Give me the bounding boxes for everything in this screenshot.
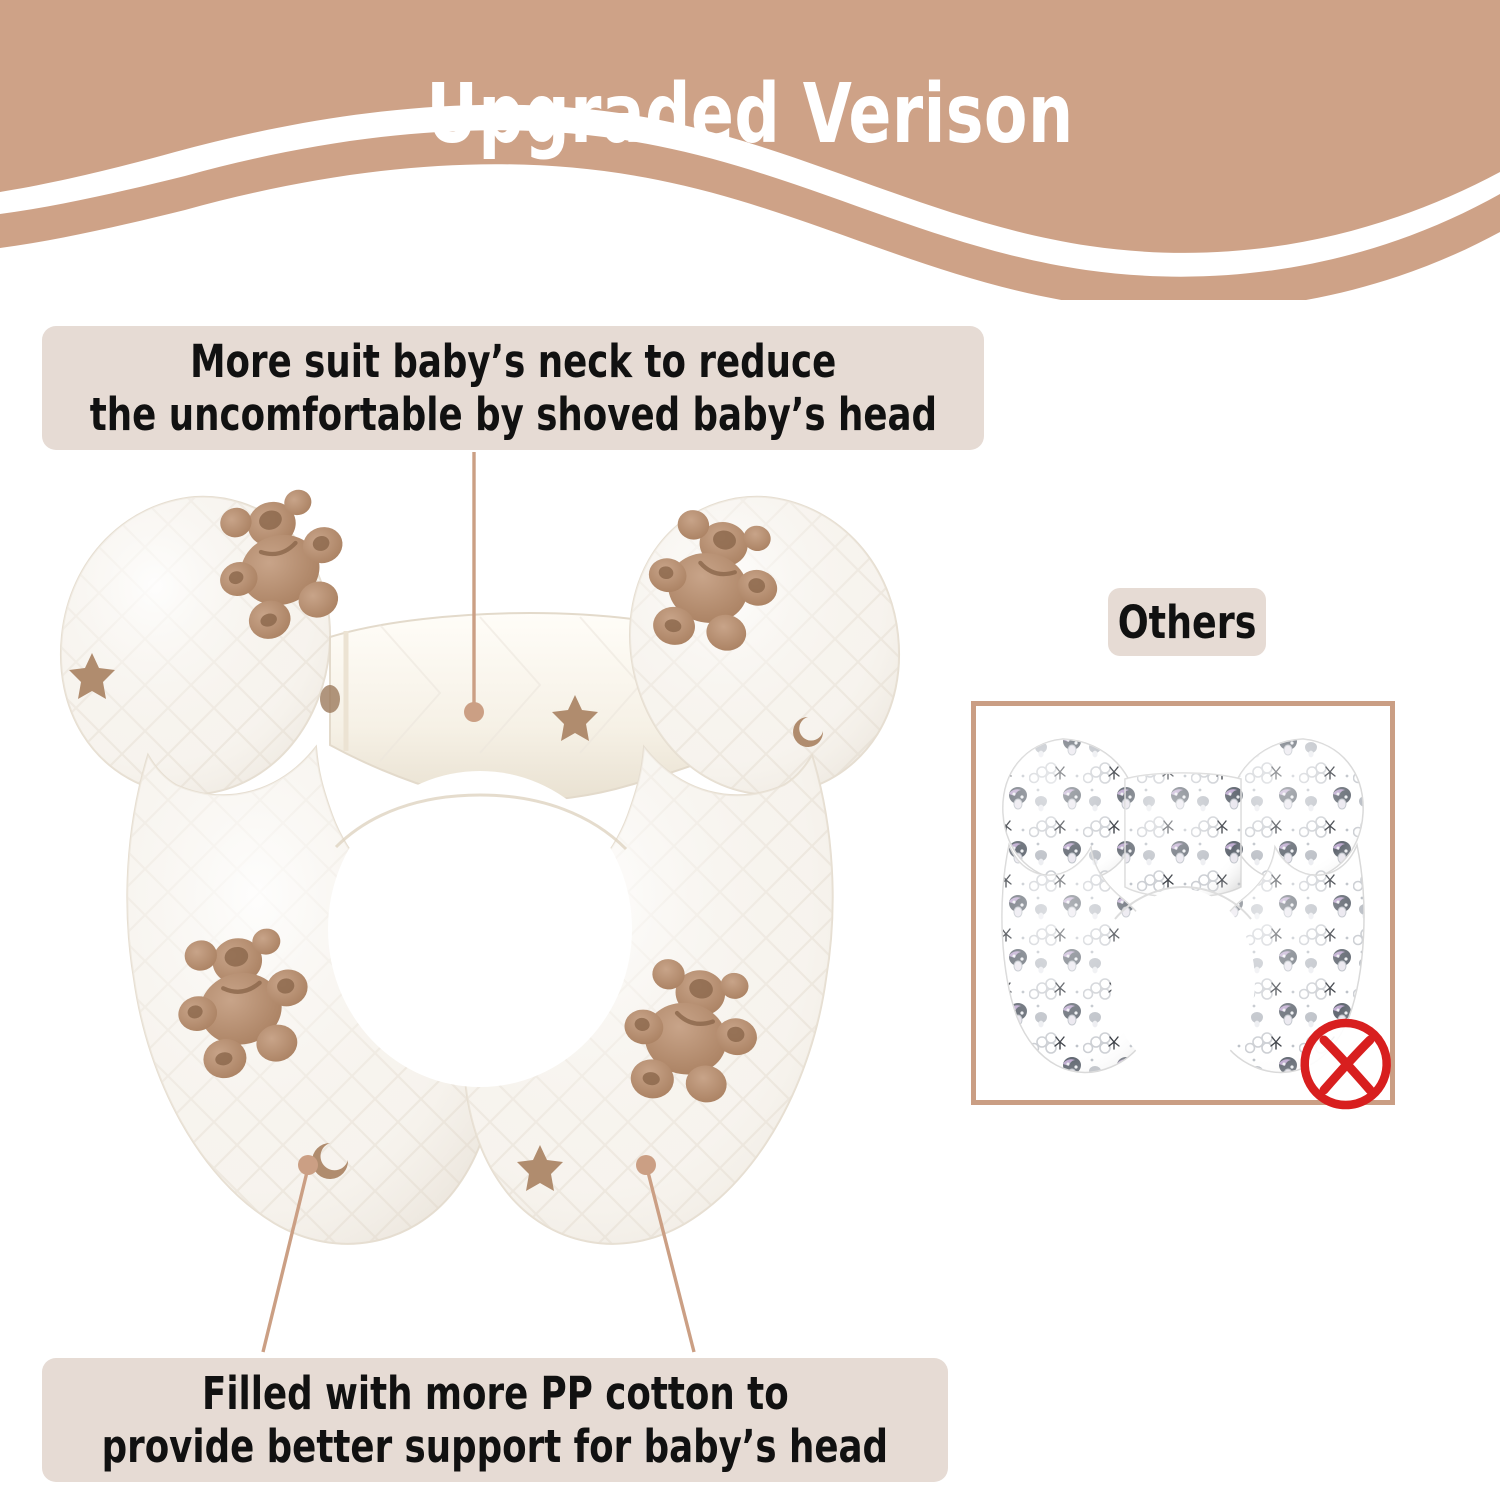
leader-line-bottom-left: [263, 1155, 318, 1352]
leader-line-top: [464, 452, 484, 722]
infographic-canvas: Upgraded Verison More suit baby’s neck t…: [0, 0, 1500, 1500]
leader-line-bottom-right: [636, 1155, 694, 1352]
leader-lines: [0, 0, 1500, 1500]
